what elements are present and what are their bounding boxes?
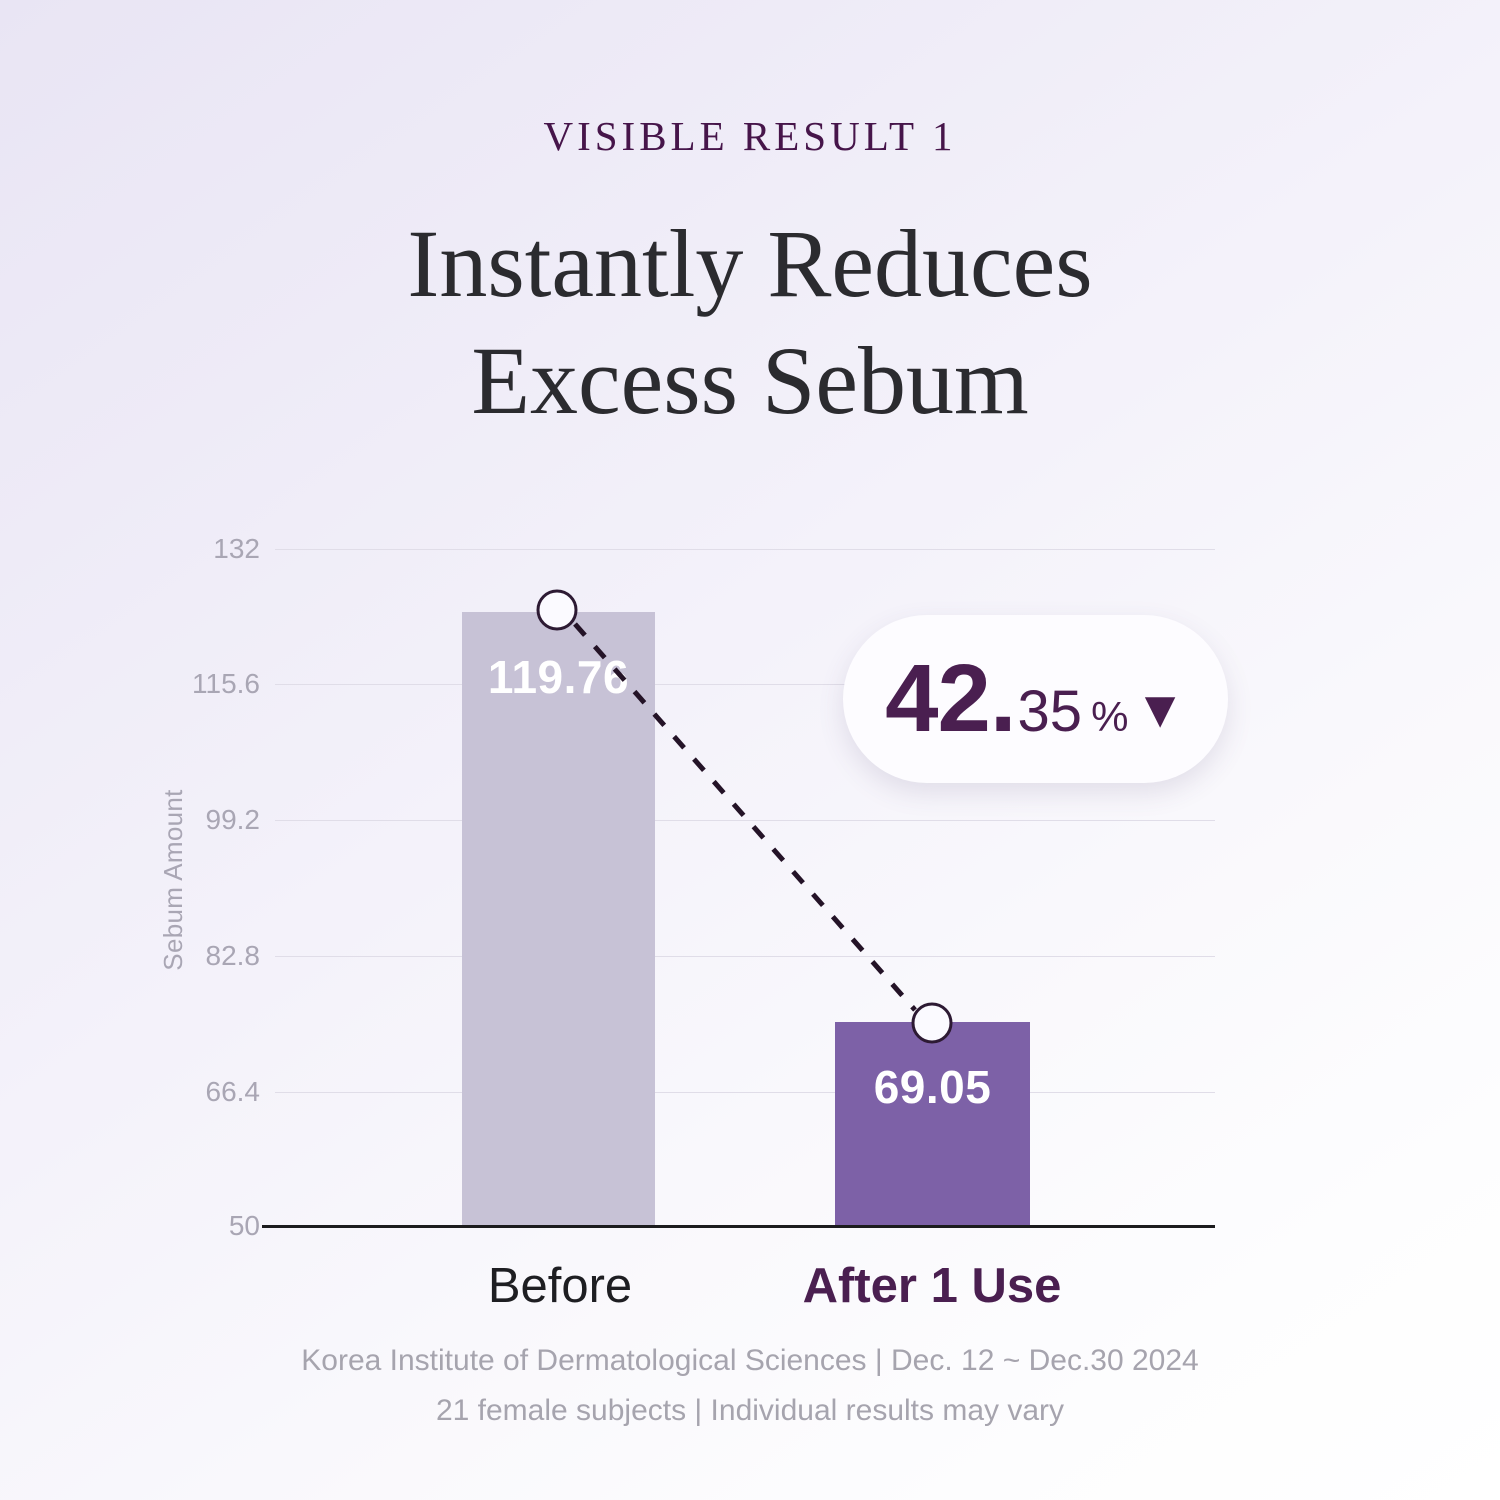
bar-after-1-use: 69.05: [835, 1022, 1030, 1226]
data-point-marker-before: [537, 590, 578, 631]
badge-integer: 42: [885, 651, 990, 747]
bar-value-label: 69.05: [835, 1060, 1030, 1114]
bar-value-label: 119.76: [462, 650, 655, 704]
percent-icon: %: [1091, 696, 1128, 738]
x-axis-line: [262, 1225, 1215, 1228]
y-axis-tick-label: 82.8: [150, 940, 260, 972]
y-axis-tick-label: 50: [150, 1210, 260, 1242]
triangle-down-icon: ▼: [1134, 684, 1185, 736]
x-axis-label-after: After 1 Use: [772, 1258, 1092, 1314]
badge-decimal-separator: .: [990, 651, 1017, 747]
y-axis-tick-label: 132: [150, 533, 260, 565]
badge-content: 42 . 35 % ▼: [885, 651, 1186, 747]
gridline: [275, 956, 1215, 957]
gridline: [275, 820, 1215, 821]
gridline: [275, 549, 1215, 550]
data-point-marker-after: [912, 1003, 953, 1044]
trend-connector-dashed-line: [0, 0, 1500, 1500]
sebum-bar-chart: Sebum Amount 132 115.6 99.2 82.8 66.4 50…: [0, 0, 1500, 1500]
gridline: [275, 1092, 1215, 1093]
y-axis-title: Sebum Amount: [158, 720, 189, 1040]
reduction-percentage-badge: 42 . 35 % ▼: [843, 615, 1228, 783]
badge-fraction: 35: [1018, 683, 1083, 741]
footnote-disclaimer: 21 female subjects | Individual results …: [0, 1394, 1500, 1428]
y-axis-tick-label: 99.2: [150, 804, 260, 836]
y-axis-tick-label: 66.4: [150, 1076, 260, 1108]
footnote-source: Korea Institute of Dermatological Scienc…: [0, 1344, 1500, 1378]
y-axis-tick-label: 115.6: [150, 668, 260, 700]
x-axis-label-before: Before: [400, 1258, 720, 1314]
bar-before: 119.76: [462, 612, 655, 1226]
